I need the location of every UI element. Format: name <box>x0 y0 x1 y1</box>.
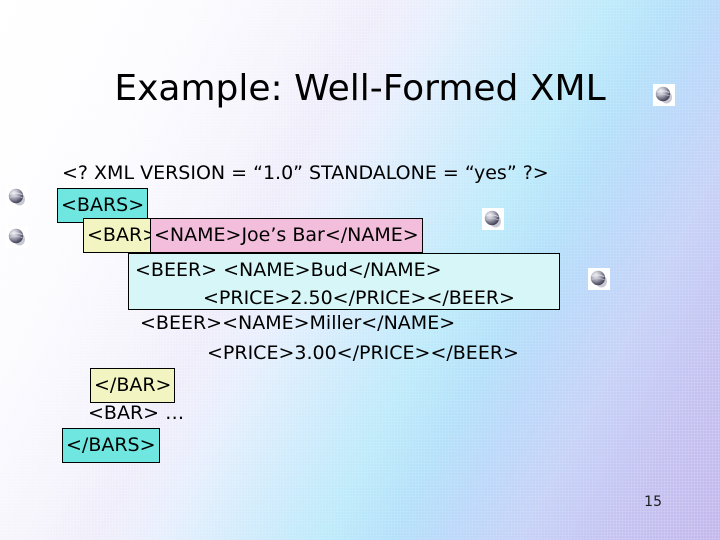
beer-bud-highlight-box: <BEER> <NAME>Bud</NAME> <PRICE>2.50</PRI… <box>128 253 560 310</box>
bar-open-ellipsis-text: <BAR> … <box>88 398 184 428</box>
page-title: Example: Well-Formed XML <box>0 68 720 109</box>
beer-miller-name-text: <BEER><NAME>Miller</NAME> <box>140 308 455 338</box>
code-line-declaration: <? XML VERSION = “1.0” STANDALONE = “yes… <box>0 158 720 188</box>
code-line-beer-miller-2: <PRICE>3.00</PRICE></BEER> <box>0 338 720 368</box>
slide-canvas: Example: Well-Formed XML <box>0 0 720 540</box>
page-number: 15 <box>644 494 662 510</box>
sphere-bullet-icon <box>653 84 675 106</box>
code-line-bar-close: </BAR> <box>0 368 720 398</box>
code-line-bars-close: </BARS> <box>0 428 720 458</box>
beer-miller-price-text: <PRICE>3.00</PRICE></BEER> <box>207 338 519 368</box>
beer-bud-price-text: <PRICE>2.50</PRICE></BEER> <box>203 284 515 312</box>
code-line-bars-open: <BARS> <box>0 188 720 218</box>
beer-bud-name-text: <BEER> <NAME>Bud</NAME> <box>135 256 442 284</box>
code-line-beer-miller-1: <BEER><NAME>Miller</NAME> <box>0 308 720 338</box>
code-line-bar-open-name: <BAR> <NAME>Joe’s Bar</NAME> <box>0 218 720 248</box>
code-line-bar-open-ellipsis: <BAR> … <box>0 398 720 428</box>
bars-close-tag: </BARS> <box>62 428 160 463</box>
xml-declaration-text: <? XML VERSION = “1.0” STANDALONE = “yes… <box>62 158 549 188</box>
